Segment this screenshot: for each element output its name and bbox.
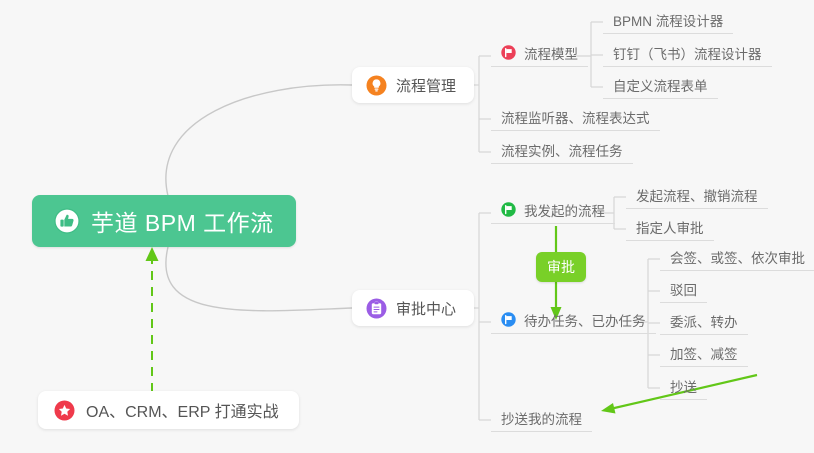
node-label-process-model: 流程模型 [524,43,578,63]
node-label-countersign: 会签、或签、依次审批 [670,247,805,267]
branch-label-approval-center: 审批中心 [396,298,456,319]
node-label-cc: 抄送 [670,376,697,396]
node-dingtalk-feishu-designer[interactable]: 钉钉（飞书）流程设计器 [603,43,772,67]
node-label-instance-task: 流程实例、流程任务 [501,140,623,160]
node-label-listener-expression: 流程监听器、流程表达式 [501,107,650,127]
node-reject[interactable]: 驳回 [660,279,707,303]
callout-approval[interactable]: 审批 [536,252,586,282]
node-label-bpmn-designer: BPMN 流程设计器 [613,10,723,30]
node-listener-expression[interactable]: 流程监听器、流程表达式 [491,107,660,131]
link-root-to-process-mgmt [166,85,352,196]
root-node[interactable]: 芋道 BPM 工作流 [32,195,296,247]
root-label: 芋道 BPM 工作流 [91,204,274,238]
flag-green-icon [501,202,516,217]
flow-arrow-integration [146,247,159,392]
node-label-my-started-processes: 我发起的流程 [524,200,605,220]
node-add-remove-sign[interactable]: 加签、减签 [660,343,748,367]
thumbs-up-icon [54,208,80,234]
flag-blue-icon [501,312,516,327]
branch-label-process-management: 流程管理 [396,75,456,96]
link-root-to-approval-center [166,247,352,311]
node-cc-to-me[interactable]: 抄送我的流程 [491,408,592,432]
node-assignee-approval[interactable]: 指定人审批 [626,217,714,241]
clipboard-icon [366,298,387,319]
node-label-add-remove-sign: 加签、减签 [670,343,738,363]
mindmap-canvas: 芋道 BPM 工作流 流程管理 流程模型 BPMN 流程设计器 钉钉（飞书）流程 [0,0,814,453]
node-label-todo-done-tasks: 待办任务、已办任务 [524,310,646,330]
node-countersign[interactable]: 会签、或签、依次审批 [660,247,814,271]
node-label-reject: 驳回 [670,279,697,299]
flag-red-icon [501,45,516,60]
node-delegate-transfer[interactable]: 委派、转办 [660,311,748,335]
node-label-delegate-transfer: 委派、转办 [670,311,738,331]
note-node-integration[interactable]: OA、CRM、ERP 打通实战 [38,391,299,429]
node-process-model[interactable]: 流程模型 [491,43,588,67]
node-start-cancel-process[interactable]: 发起流程、撤销流程 [626,185,768,209]
star-icon [54,400,75,421]
node-label-cc-to-me: 抄送我的流程 [501,408,582,428]
node-my-started-processes[interactable]: 我发起的流程 [491,200,615,224]
node-label-dingtalk-feishu-designer: 钉钉（飞书）流程设计器 [613,43,762,63]
node-label-start-cancel-process: 发起流程、撤销流程 [636,185,758,205]
node-instance-task[interactable]: 流程实例、流程任务 [491,140,633,164]
branch-node-approval-center[interactable]: 审批中心 [352,290,474,326]
branch-node-process-management[interactable]: 流程管理 [352,67,474,103]
node-custom-form[interactable]: 自定义流程表单 [603,75,718,99]
lightbulb-icon [366,75,387,96]
node-bpmn-designer[interactable]: BPMN 流程设计器 [603,10,733,34]
node-label-assignee-approval: 指定人审批 [636,217,704,237]
note-label-integration: OA、CRM、ERP 打通实战 [86,398,279,422]
node-cc[interactable]: 抄送 [660,376,707,400]
node-label-custom-form: 自定义流程表单 [613,75,708,95]
node-todo-done-tasks[interactable]: 待办任务、已办任务 [491,310,656,334]
callout-approval-label: 审批 [547,257,575,277]
